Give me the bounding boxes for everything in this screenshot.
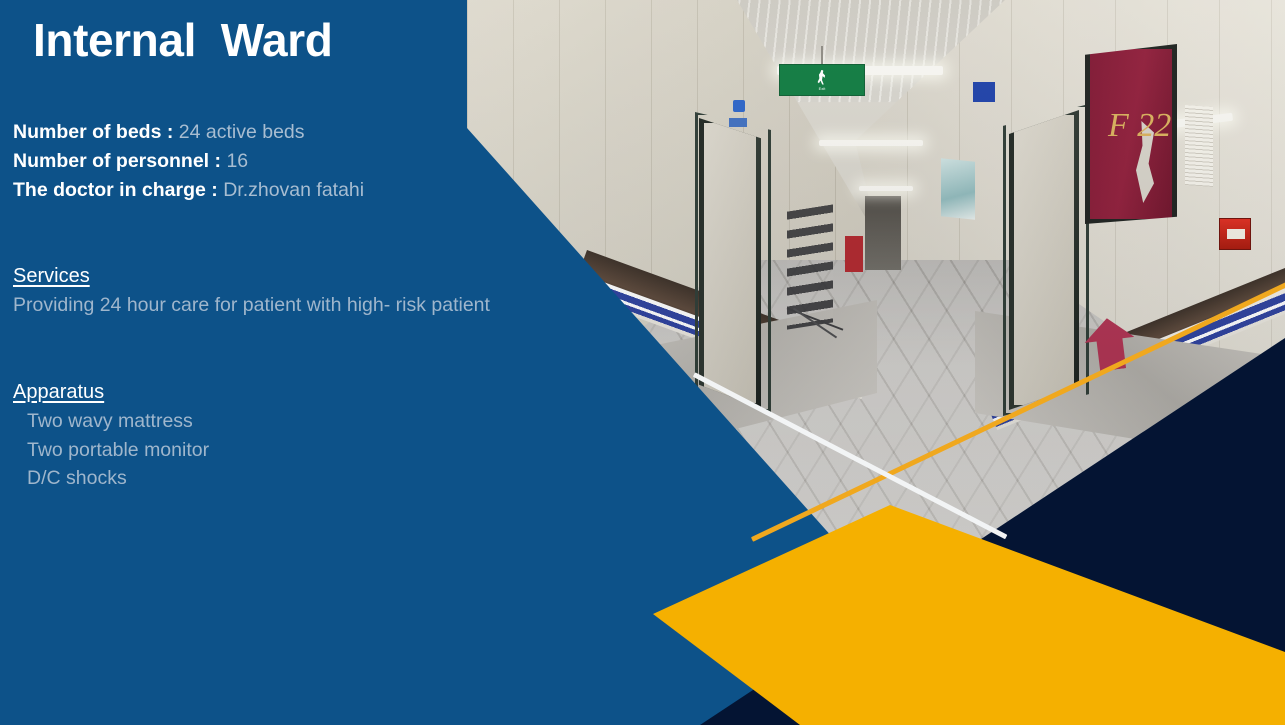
fact-value: 24 active beds: [179, 121, 305, 143]
slide-text-layer: Internal Ward Number of beds : 24 active…: [0, 0, 467, 725]
apparatus-heading: Apparatus: [13, 381, 104, 404]
fire-alarm-box: [1219, 218, 1251, 250]
wall-sign-blue: [973, 82, 995, 102]
wall-artwork: [941, 158, 975, 220]
fact-value: 16: [226, 150, 248, 172]
wall-notice: [1185, 105, 1213, 187]
fact-label: Number of personnel :: [13, 150, 226, 172]
fire-cabinet-label: F 22: [1108, 107, 1171, 145]
exit-sign-hanger: [821, 46, 823, 66]
fire-hose-cabinet: F 22: [1085, 44, 1177, 224]
left-glass-partition: [695, 112, 771, 412]
presentation-slide: Exit F 22 Internal Ward Number of beds :…: [0, 0, 1285, 725]
right-glass-partition: [1003, 104, 1089, 416]
alarm-glass: [1227, 229, 1245, 239]
red-cart: [845, 236, 863, 272]
far-doorway: [865, 196, 901, 270]
page-title: Internal Ward: [33, 13, 332, 67]
fact-row: Number of personnel : 16: [13, 150, 248, 173]
running-man-icon: [817, 70, 828, 85]
list-item: Two portable monitor: [27, 439, 209, 462]
wall-sign-blue: [729, 118, 747, 127]
fact-row: Number of beds : 24 active beds: [13, 121, 305, 144]
services-heading: Services: [13, 265, 90, 288]
fact-row: The doctor in charge : Dr.zhovan fatahi: [13, 179, 364, 202]
services-body-text: Providing 24 hour care for patient with …: [13, 294, 490, 317]
fact-label: Number of beds :: [13, 121, 179, 143]
list-item: D/C shocks: [27, 467, 127, 490]
fact-label: The doctor in charge :: [13, 179, 223, 201]
exit-sign: Exit: [779, 64, 865, 96]
list-item: Two wavy mattress: [27, 410, 193, 433]
ceiling-light: [859, 186, 913, 191]
fact-value: Dr.zhovan fatahi: [223, 179, 364, 201]
wall-indicator-light: [733, 100, 745, 112]
exit-sign-caption: Exit: [819, 86, 826, 91]
ceiling-light: [819, 140, 923, 146]
